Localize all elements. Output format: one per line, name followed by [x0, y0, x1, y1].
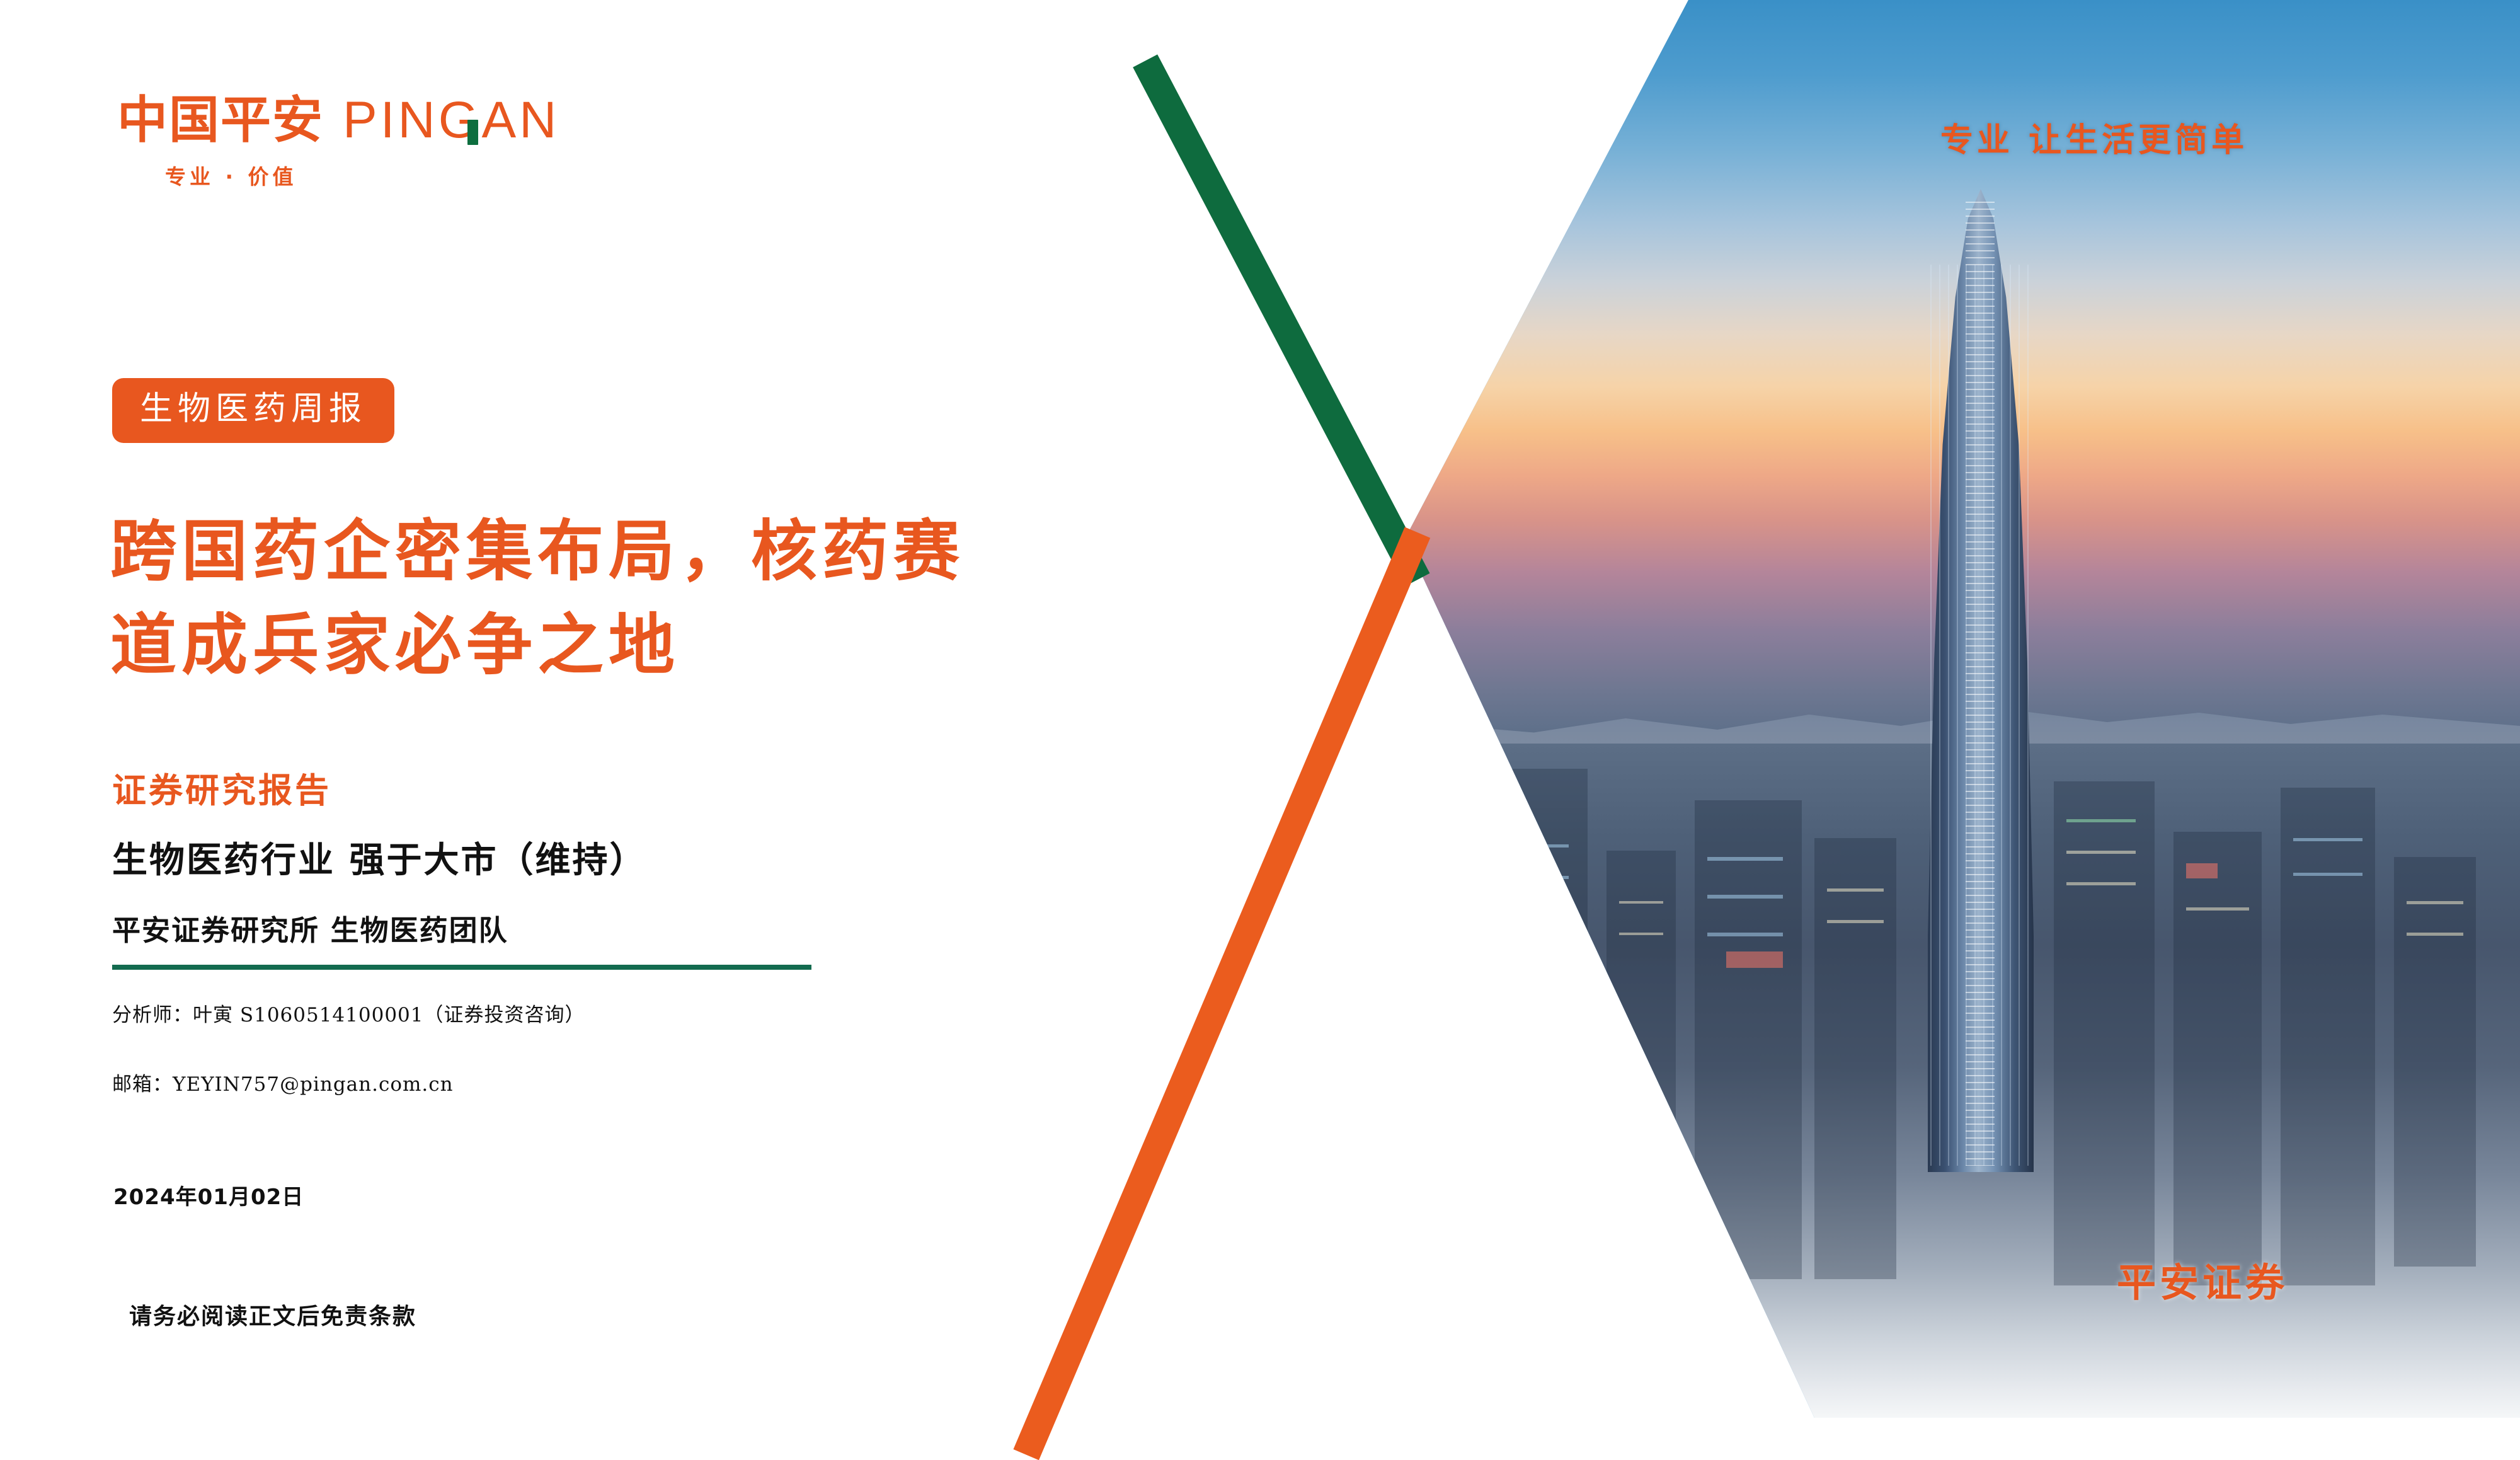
disclaimer-notice: 请务必阅读正文后免责条款	[129, 1298, 416, 1331]
page-title: 跨国药企密集布局，核药赛 道成兵家必争之地	[110, 504, 1370, 692]
analyst-email-line: 邮箱：YEYIN757@pingan.com.cn	[112, 1068, 454, 1096]
page-title-line-2: 道成兵家必争之地	[110, 598, 1370, 692]
brand-logo-tagline: 专业 · 价值	[165, 160, 559, 190]
photo-tagline: 专业 让生活更简单	[1940, 113, 2248, 161]
brand-logo-en: PINGAN	[343, 95, 559, 146]
cover-photo-panel: 专业 让生活更简单 平安证券	[1373, 0, 2520, 1418]
industry-rating-label: 生物医药行业 强于大市（维持）	[112, 832, 647, 883]
section-divider	[112, 965, 811, 970]
report-series-badge: 生物医药周报	[112, 378, 394, 443]
brand-logo-en-text: PINGAN	[343, 91, 559, 149]
analyst-credential-line: 分析师：叶寅 S1060514100001（证券投资咨询）	[112, 999, 585, 1027]
brand-logo-row: 中国平安 PINGAN	[117, 95, 559, 146]
photo-backdrop: 专业 让生活更简单 平安证券	[1373, 0, 2520, 1418]
brand-logo: 中国平安 PINGAN 专业 · 价值	[117, 95, 559, 190]
tower-lit-core	[1966, 202, 1995, 1166]
page-title-line-1: 跨国药企密集布局，核药赛	[110, 504, 1370, 598]
publication-date: 2024年01月02日	[113, 1180, 304, 1210]
photo-watermark-logo: 平安证券	[2117, 1251, 2288, 1308]
report-type-label: 证券研究报告	[112, 762, 331, 812]
brand-logo-cn: 中国平安	[117, 95, 324, 146]
brand-logo-green-dot-icon	[467, 120, 478, 145]
research-team-label: 平安证券研究所 生物医药团队	[112, 907, 508, 948]
